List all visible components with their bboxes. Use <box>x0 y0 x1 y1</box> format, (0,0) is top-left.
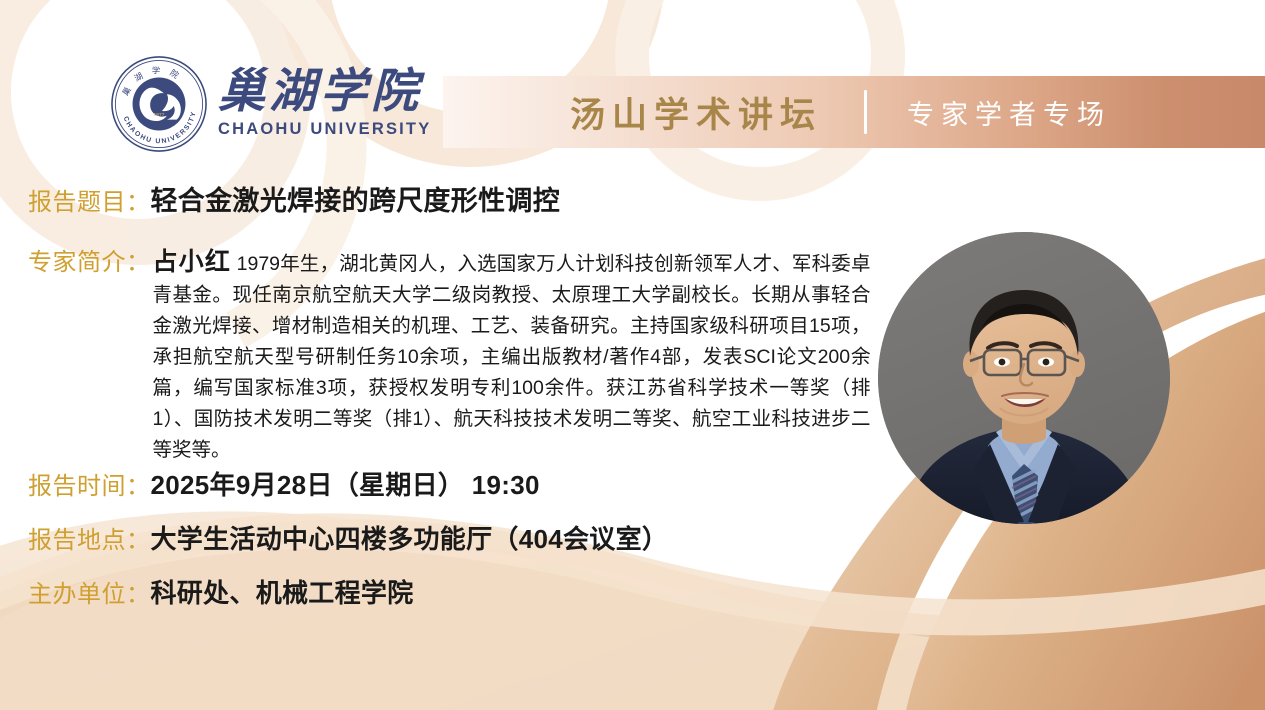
speaker-portrait <box>878 232 1170 524</box>
lecture-time-row: 报告时间： 2025年9月28日（星期日） 19:30 <box>28 465 540 502</box>
lecture-title-value: 轻合金激光焊接的跨尺度形性调控 <box>151 179 561 218</box>
poster-canvas: 1977 巢湖学院 CHAOHU UNIVERSITY 巢湖学院 CHAOHU … <box>0 0 1265 710</box>
speaker-name: 占小红 <box>153 248 232 276</box>
lecture-host-value: 科研处、机械工程学院 <box>151 573 414 610</box>
lecture-host-row: 主办单位： 科研处、机械工程学院 <box>28 573 414 610</box>
speaker-bio-text: 1979年生，湖北黄冈人，入选国家万人计划科技创新领军人才、军科委卓青基金。现任… <box>153 253 871 461</box>
speaker-bio-label: 专家简介： <box>28 247 151 278</box>
lecture-title-label: 报告题目： <box>28 182 151 217</box>
lecture-title-row: 报告题目： 轻合金激光焊接的跨尺度形性调控 <box>28 179 560 218</box>
lecture-place-value: 大学生活动中心四楼多功能厅（404会议室） <box>151 519 669 556</box>
speaker-bio-body: 占小红 1979年生，湖北黄冈人，入选国家万人计划科技创新领军人才、军科委卓青基… <box>153 247 871 466</box>
lecture-time-value: 2025年9月28日（星期日） 19:30 <box>151 465 540 502</box>
speaker-bio-row: 专家简介： 占小红 1979年生，湖北黄冈人，入选国家万人计划科技创新领军人才、… <box>28 247 871 466</box>
lecture-place-row: 报告地点： 大学生活动中心四楼多功能厅（404会议室） <box>28 519 668 556</box>
lecture-time-label: 报告时间： <box>28 466 151 501</box>
lecture-host-label: 主办单位： <box>28 574 151 609</box>
lecture-place-label: 报告地点： <box>28 520 151 555</box>
